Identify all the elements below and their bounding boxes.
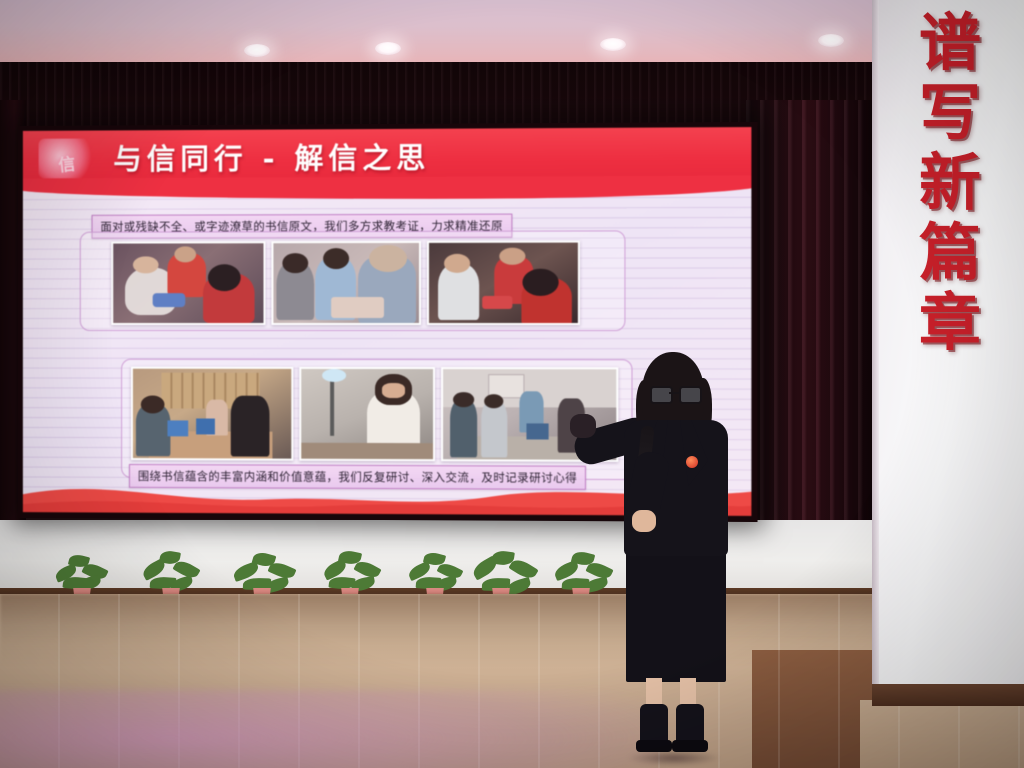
slide-photo-3	[427, 241, 580, 325]
ceiling-light-icon	[600, 38, 626, 51]
ceiling-light-icon	[818, 34, 844, 47]
speaker-skirt	[626, 548, 726, 682]
slide-header-band: 信 与信同行 - 解信之思	[23, 127, 752, 186]
plant-foliage-icon	[406, 551, 464, 593]
ceiling-light-icon	[375, 42, 401, 55]
slide-logo-icon: 信	[39, 138, 94, 178]
plant-foliage-icon	[142, 551, 200, 593]
presentation-scene: 信 与信同行 - 解信之思 面对或残缺不全、或字迹潦草的书信原文，我们多方求教考…	[0, 0, 1024, 768]
wall-sign-char: 谱	[919, 12, 981, 74]
slide-photo-2	[271, 241, 421, 325]
right-wall-pillar-edge	[872, 0, 879, 700]
wall-sign-char: 章	[919, 292, 981, 354]
wall-sign-char: 写	[919, 82, 981, 144]
speaker-right-sole	[672, 740, 708, 752]
plant-foliage-icon	[233, 551, 291, 593]
speaker-person	[570, 352, 770, 768]
plant-foliage-icon	[472, 551, 530, 593]
slide-photo-1	[111, 241, 265, 325]
slide-logo-mark: 信	[57, 150, 76, 176]
wall-sign-char: 新	[919, 152, 981, 214]
speaker-shadow	[626, 750, 722, 766]
speaker-right-hand	[632, 510, 656, 532]
plant-foliage-icon	[53, 551, 111, 593]
lapel-badge-icon	[686, 456, 698, 468]
plant-foliage-icon	[321, 551, 379, 593]
ceiling-light-icon	[244, 44, 270, 57]
wall-baseboard	[872, 684, 1024, 706]
speaker-left-hand	[570, 414, 596, 438]
wall-sign-char: 篇	[919, 222, 981, 284]
speaker-left-sole	[636, 740, 672, 752]
glasses-icon	[650, 386, 698, 400]
slide-title: 与信同行 - 解信之思	[113, 135, 430, 178]
slide-photo-4	[131, 367, 293, 461]
ceiling	[0, 0, 1024, 66]
stage-light-glow	[0, 690, 660, 768]
slide-photo-5	[299, 367, 435, 461]
wall-vertical-sign: 谱 写 新 篇 章	[902, 12, 998, 354]
